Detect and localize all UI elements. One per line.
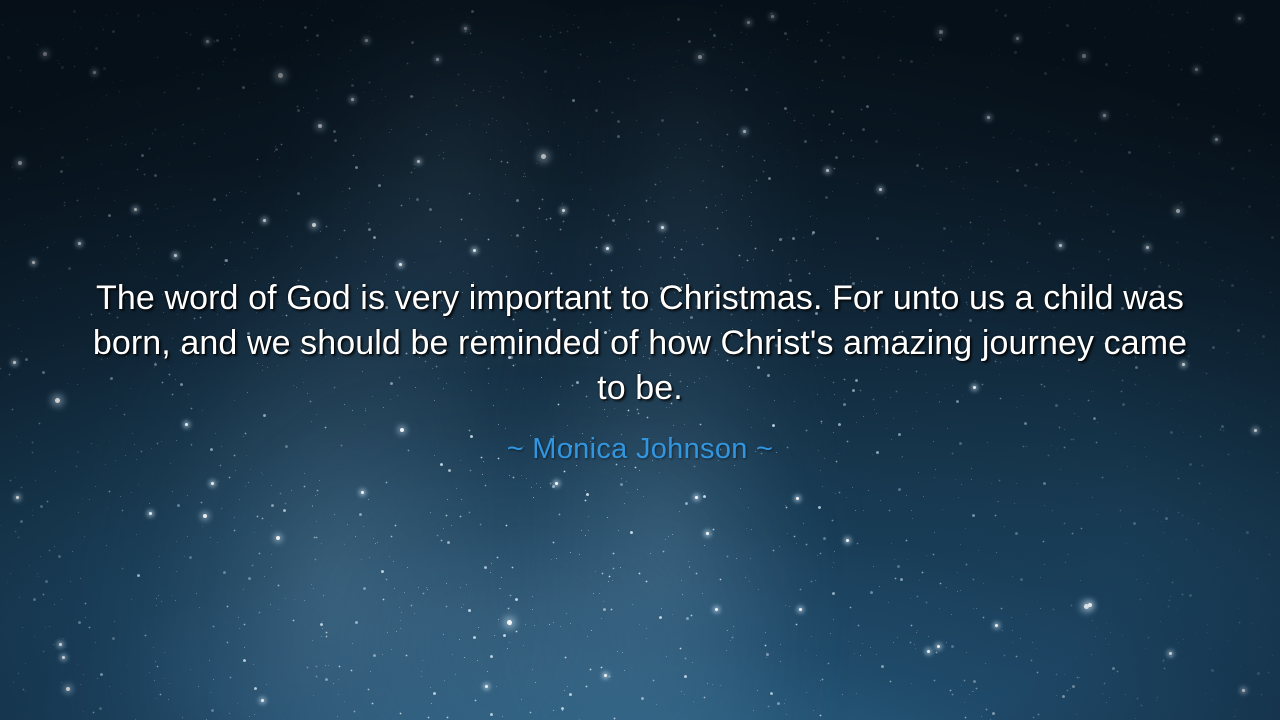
- quote-image-canvas: The word of God is very important to Chr…: [0, 0, 1280, 720]
- night-sky-background: [0, 0, 1280, 720]
